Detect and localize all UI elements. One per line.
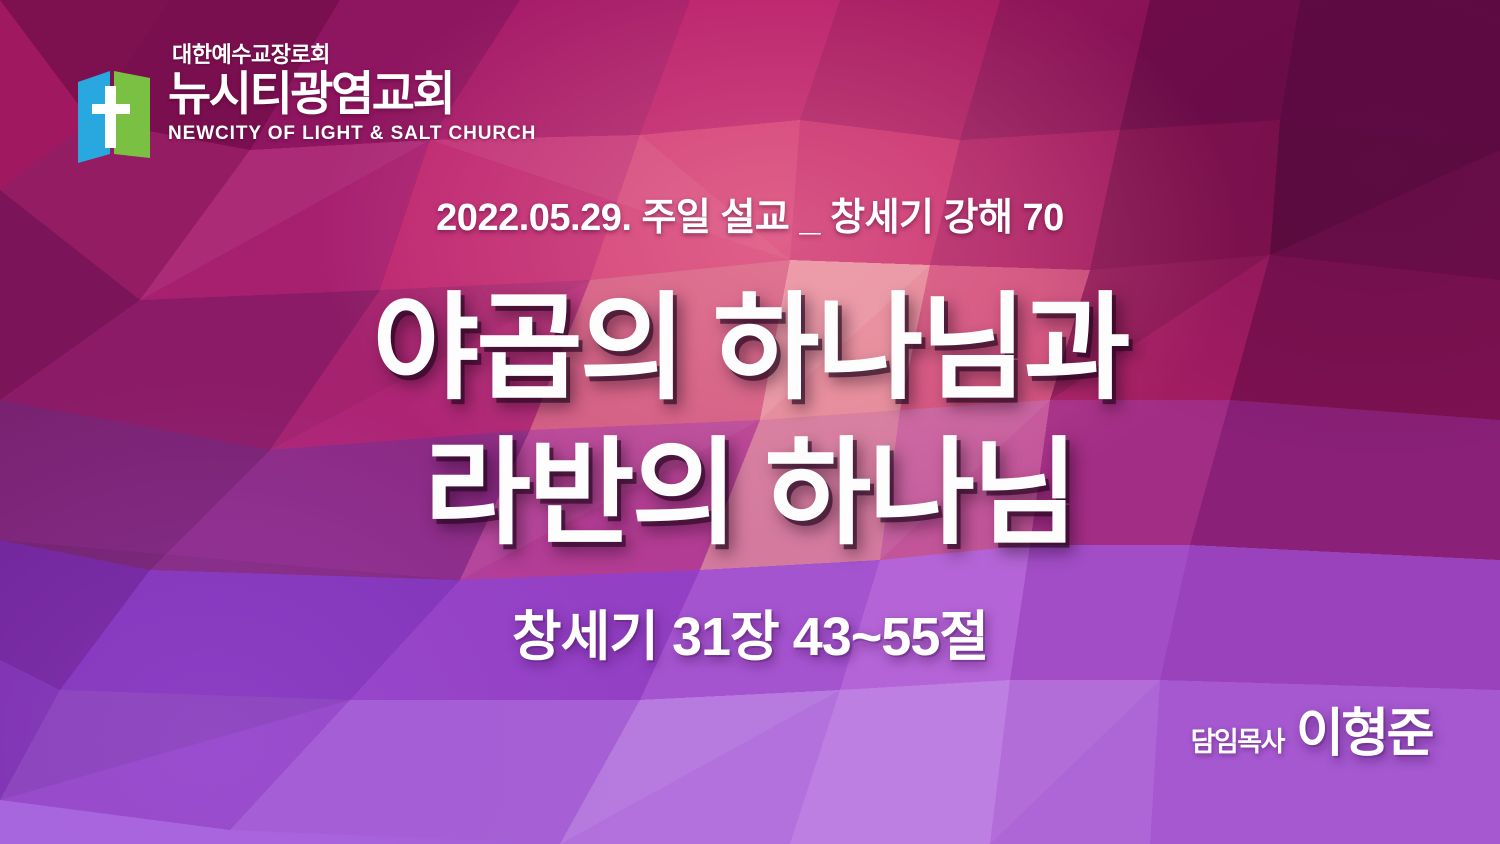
sermon-center-block: 2022.05.29. 주일 설교 _ 창세기 강해 70 야곱의 하나님과 라… — [0, 196, 1500, 667]
logo-church-name-en: NEWCITY OF LIGHT & SALT CHURCH — [168, 124, 536, 143]
open-door-cross-icon — [74, 68, 156, 166]
sermon-title-slide: 대한예수교장로회 뉴시티광염교회 NEWCITY OF LIGHT & SALT… — [0, 0, 1500, 844]
logo-denomination: 대한예수교장로회 — [172, 44, 330, 66]
sermon-scripture-reference: 창세기 31장 43~55절 — [0, 608, 1500, 667]
preacher-credit: 담임목사 이형준 — [1191, 691, 1432, 766]
logo-church-name-ko: 뉴시티광염교회 — [168, 70, 453, 119]
sermon-title-line-1: 야곱의 하나님과 — [0, 276, 1500, 421]
sermon-series-line: 2022.05.29. 주일 설교 _ 창세기 강해 70 — [0, 196, 1500, 242]
preacher-name: 이형준 — [1296, 691, 1432, 766]
sermon-title: 야곱의 하나님과 라반의 하나님 — [0, 276, 1500, 566]
preacher-role: 담임목사 — [1191, 720, 1284, 759]
sermon-title-line-2: 라반의 하나님 — [0, 421, 1500, 566]
church-logo: 대한예수교장로회 뉴시티광염교회 NEWCITY OF LIGHT & SALT… — [74, 44, 536, 166]
